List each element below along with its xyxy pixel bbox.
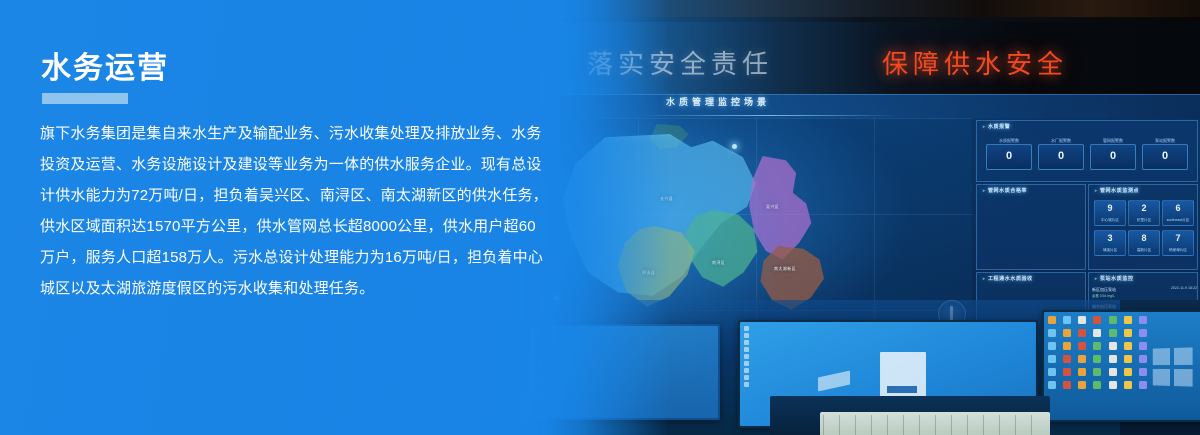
- alarm-card: 水质报警数 0: [986, 144, 1032, 170]
- map-label: 南太湖新区: [774, 266, 796, 272]
- slogan-banner: 落实安全责任 保障供水安全: [520, 22, 1200, 94]
- desktop-icon: [1109, 316, 1117, 324]
- monitor-value: 6: [1163, 203, 1193, 213]
- desktop-icon: [1048, 368, 1056, 376]
- desktop-icon: [1078, 342, 1086, 350]
- desktop-icon-column: [744, 326, 758, 422]
- desktop-icon: [1078, 355, 1086, 363]
- alarm-value: 0: [1091, 150, 1135, 162]
- alarm-value: 0: [987, 150, 1031, 162]
- desktop-icon: [1139, 342, 1147, 350]
- desktop-icon: [1078, 368, 1086, 376]
- desktop-icon: [1139, 381, 1147, 389]
- alarm-label: 水厂报警数: [1039, 138, 1083, 144]
- monitor-windows-screen: [1044, 312, 1200, 420]
- desktop-icon: [1109, 329, 1117, 337]
- hero-banner: 落实安全责任 保障供水安全 水质管理监控场景 年用水总量 (万吨) 今日供水量 …: [0, 0, 1200, 435]
- monitor-label: 高新片区: [1129, 248, 1159, 253]
- monitor-windows-desktop: [1042, 310, 1200, 422]
- map-marker-dot: [732, 144, 737, 149]
- monitor-cell: 3 埭溪片区: [1094, 230, 1126, 256]
- panel-title: 泵站水质监控: [1094, 275, 1134, 282]
- desktop-icon: [744, 368, 749, 373]
- alarm-value: 0: [1039, 150, 1083, 162]
- monitor-value: 9: [1095, 203, 1125, 213]
- alarm-card: 泵站报警数 0: [1142, 144, 1188, 170]
- desktop-icon: [744, 382, 749, 387]
- desktop-icon: [744, 361, 749, 366]
- alarm-card: 管网报警数 0: [1090, 144, 1136, 170]
- monitor-cell: 9 中心城片区: [1094, 200, 1126, 226]
- desktop-icon: [1048, 355, 1056, 363]
- intro-paragraph: 旗下水务集团是集自来水生产及输配业务、污水收集处理及排放业务、水务投资及运营、水…: [40, 118, 550, 304]
- panel-pass-rate: [976, 184, 1086, 270]
- monitor-label: 杨家埠片区: [1163, 248, 1193, 253]
- desktop-icon: [1124, 329, 1132, 337]
- desktop-icon: [744, 326, 749, 331]
- panel-title: 工程通水水质验收: [982, 275, 1033, 282]
- watermark-logo-icon: [818, 371, 850, 392]
- desktop-icon: [1093, 368, 1101, 376]
- monitor-value: 7: [1163, 233, 1193, 243]
- dashboard-title: 水质管理监控场景: [666, 95, 770, 108]
- desktop-icon: [1139, 329, 1147, 337]
- title-underline-bar: [42, 93, 128, 104]
- desktop-icon: [1048, 342, 1056, 350]
- monitor-cell: 7 杨家埠片区: [1162, 230, 1194, 256]
- desktop-icon: [744, 347, 749, 352]
- desktop-icon-grid: [1048, 316, 1152, 416]
- dashboard-header: [520, 94, 1200, 119]
- desktop-icon: [1063, 329, 1071, 337]
- desktop-icon: [1078, 381, 1086, 389]
- desktop-icon: [1109, 368, 1117, 376]
- monitor-label: 织里片区: [1129, 218, 1159, 223]
- desktop-icon: [1048, 316, 1056, 324]
- monitor-value: 8: [1129, 233, 1159, 243]
- monitor-cell: 2 织里片区: [1128, 200, 1160, 226]
- alarm-card: 水厂报警数 0: [1038, 144, 1084, 170]
- monitor-value: 3: [1095, 233, 1125, 243]
- desktop-icon: [1048, 381, 1056, 389]
- desktop-icon: [1063, 342, 1071, 350]
- pump-metric: 余氯 0.54 mg/L: [1092, 293, 1200, 299]
- monitor-cell: 8 高新片区: [1128, 230, 1160, 256]
- pump-time: 2022-11-9 18:22: [1171, 286, 1197, 290]
- map-label: 长兴县: [660, 196, 673, 202]
- desktop-icon: [1048, 329, 1056, 337]
- monitor-label: 埭溪片区: [1095, 248, 1125, 253]
- windows-logo-icon: [1153, 347, 1193, 386]
- panel-title: 管网水质监测点: [1094, 187, 1139, 194]
- desktop-icon: [1063, 355, 1071, 363]
- monitor-label: 中心城片区: [1095, 218, 1125, 223]
- desktop-icon: [1139, 355, 1147, 363]
- desktop-icon: [1124, 355, 1132, 363]
- desktop-icon: [744, 354, 749, 359]
- desktop-icon: [744, 333, 749, 338]
- slogan-right: 保障供水安全: [882, 44, 1068, 81]
- monitor-value: 2: [1129, 203, 1159, 213]
- intro-panel: 水务运营 旗下水务集团是集自来水生产及输配业务、污水收集处理及排放业务、水务投资…: [0, 0, 560, 435]
- desktop-icon: [1063, 368, 1071, 376]
- desktop-icon: [1139, 368, 1147, 376]
- desktop-icon: [1124, 316, 1132, 324]
- desktop-icon: [1124, 368, 1132, 376]
- desktop-icon: [1124, 381, 1132, 389]
- desktop-icon: [1093, 342, 1101, 350]
- desktop-icon: [1109, 342, 1117, 350]
- alarm-label: 管网报警数: [1091, 138, 1135, 144]
- desktop-icon: [1078, 316, 1086, 324]
- desktop-icon: [1078, 329, 1086, 337]
- operator-desks: [520, 300, 1200, 435]
- desktop-icon: [1063, 316, 1071, 324]
- desktop-icon: [1109, 355, 1117, 363]
- slogan-left: 落实安全责任: [587, 44, 773, 81]
- panel-monitor-points: [1088, 184, 1198, 270]
- monitor-label: southeast片区: [1163, 218, 1193, 223]
- desktop-icon: [744, 375, 749, 380]
- map-label: 吴兴区: [766, 204, 779, 210]
- desktop-icon: [1093, 381, 1101, 389]
- alarm-label: 水质报警数: [987, 138, 1031, 144]
- page-title: 水务运营: [41, 50, 169, 88]
- desktop-icon: [1093, 355, 1101, 363]
- map-label: 德清县: [642, 270, 655, 276]
- desktop-icon: [1093, 329, 1101, 337]
- desktop-icon: [744, 340, 749, 345]
- alarm-label: 泵站报警数: [1143, 138, 1187, 144]
- desktop-icon: [1124, 342, 1132, 350]
- monitor-cell: 6 southeast片区: [1162, 200, 1194, 226]
- panel-title: 管网水质合格率: [982, 187, 1027, 194]
- intro-description: 旗下水务集团是集自来水生产及输配业务、污水收集处理及排放业务、水务投资及运营、水…: [40, 118, 550, 304]
- desktop-icon: [1063, 381, 1071, 389]
- desktop-icon: [1139, 316, 1147, 324]
- control-room-photo: 落实安全责任 保障供水安全 水质管理监控场景 年用水总量 (万吨) 今日供水量 …: [520, 0, 1200, 435]
- desktop-icon: [1109, 381, 1117, 389]
- desktop-icon: [1093, 316, 1101, 324]
- panel-title: 水质报警: [982, 123, 1010, 130]
- led-video-wall: 落实安全责任 保障供水安全 水质管理监控场景 年用水总量 (万吨) 今日供水量 …: [520, 22, 1200, 317]
- keyboard: [820, 412, 1050, 435]
- alarm-value: 0: [1143, 150, 1187, 162]
- map-label: 南浔区: [712, 260, 725, 266]
